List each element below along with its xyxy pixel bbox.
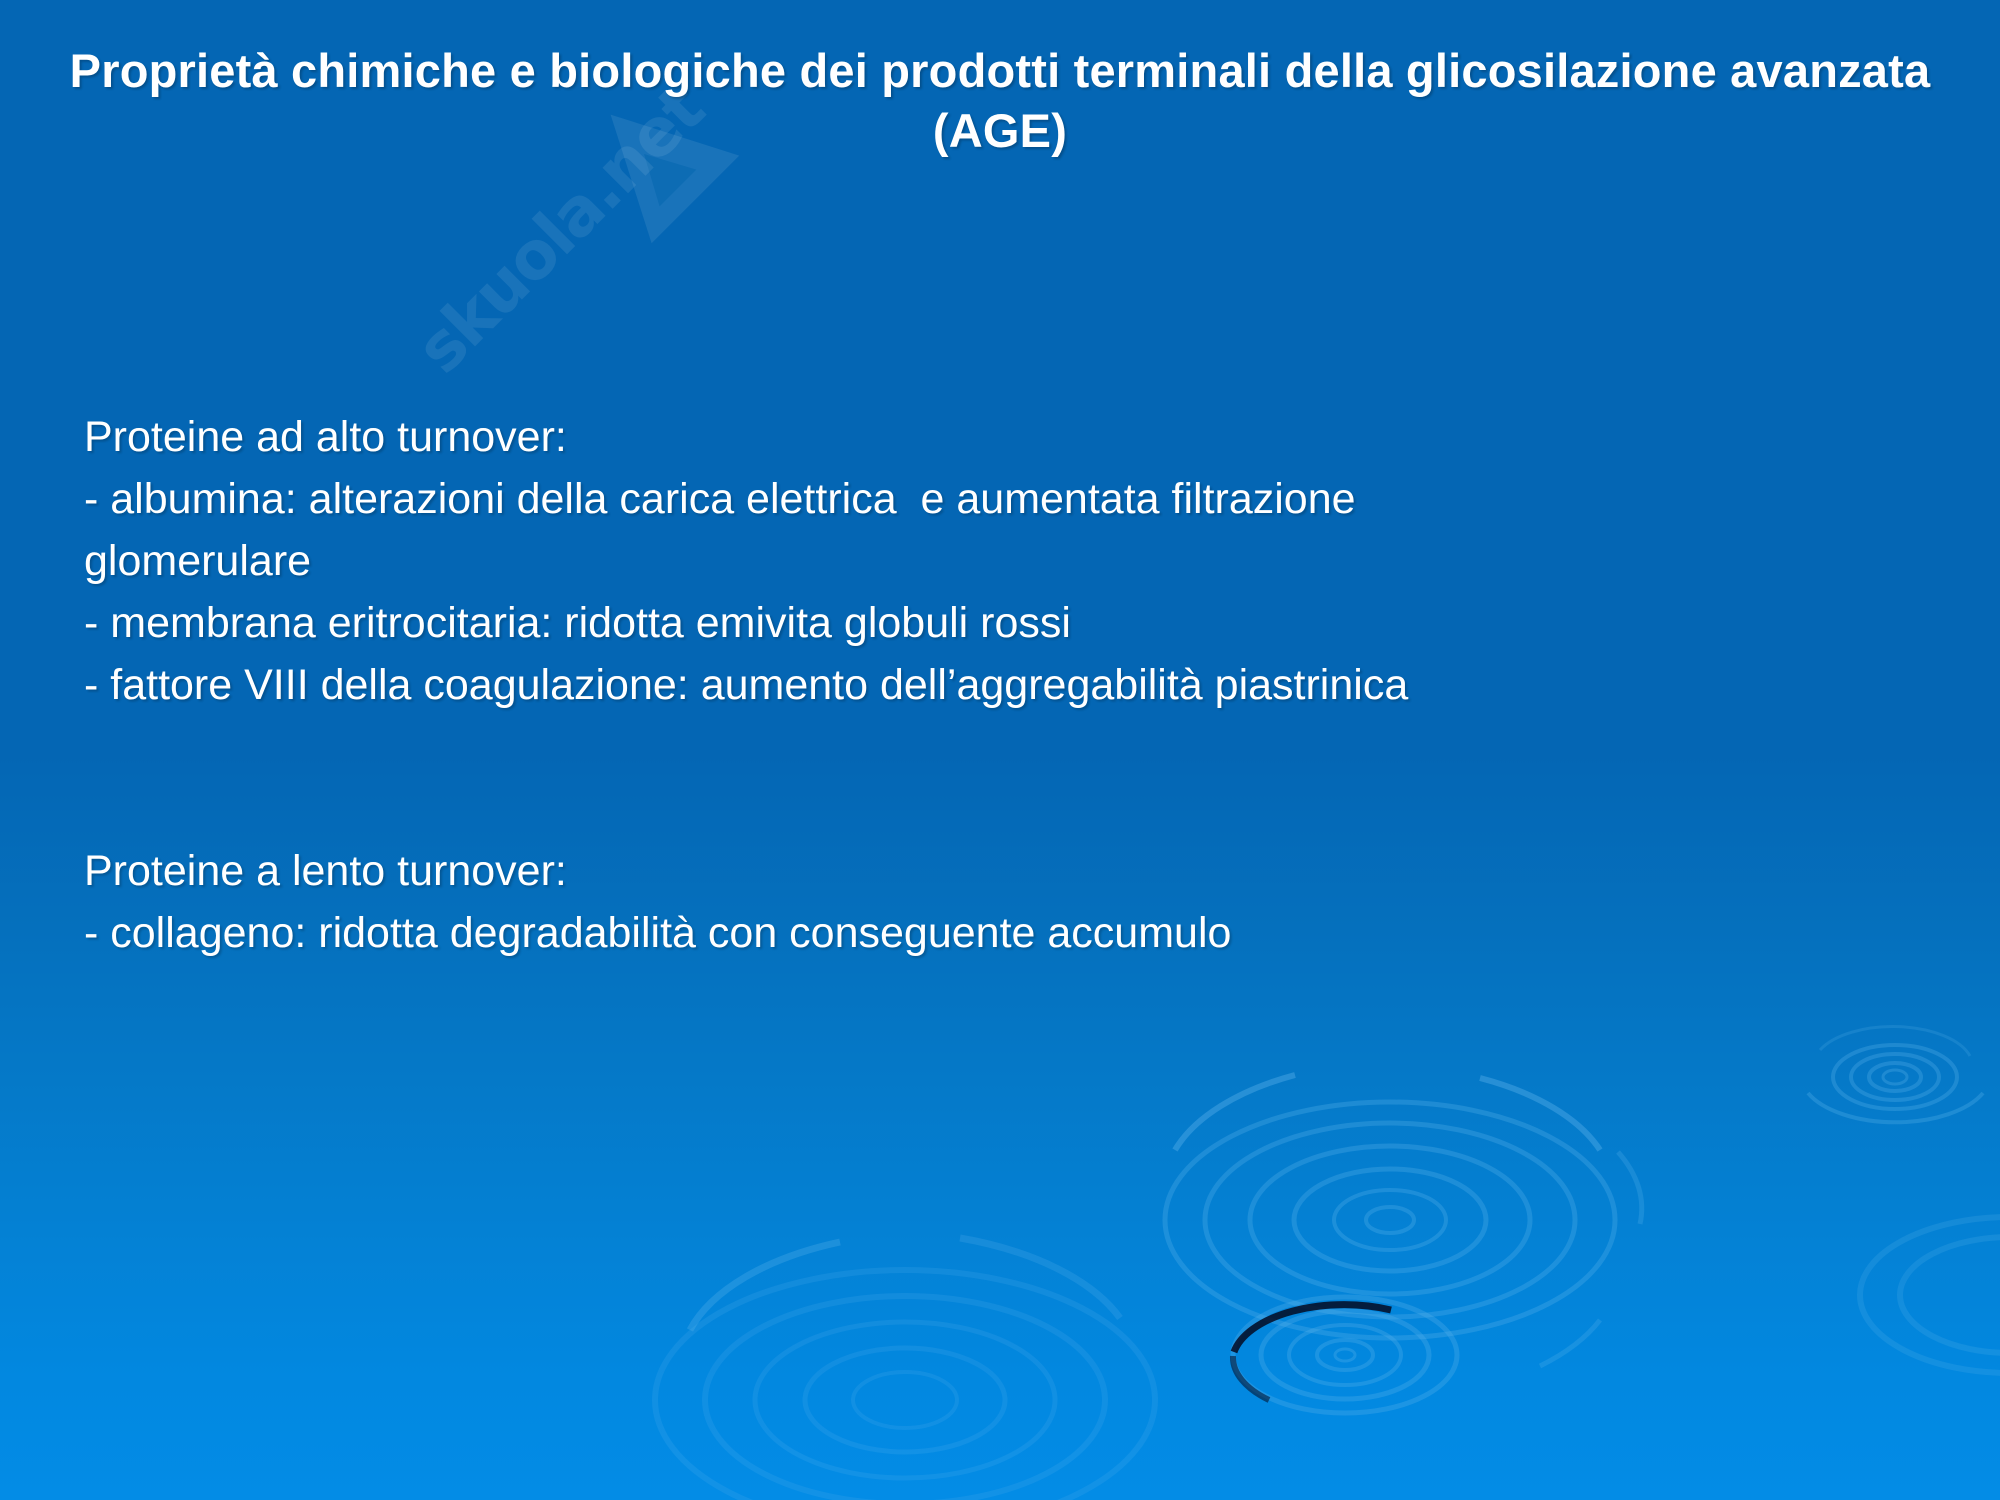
slide-canvas: skuola.net Proprietà chimiche e biologic… xyxy=(0,0,2000,1500)
ripple-medium-bottom-centre xyxy=(1233,1297,1457,1413)
paragraph-spacer xyxy=(84,716,1914,840)
ripple-large-bottom-right xyxy=(1165,1075,1642,1366)
body-line: - membrana eritrocitaria: ridotta emivit… xyxy=(84,592,1914,654)
body-line: - fattore VIII della coagulazione: aumen… xyxy=(84,654,1914,716)
body-line: - albumina: alterazioni della carica ele… xyxy=(84,468,1914,530)
body-line: - collageno: ridotta degradabilità con c… xyxy=(84,902,1914,964)
ripple-edge-right xyxy=(1860,1217,2000,1373)
ripple-faint-bottom-left xyxy=(655,1238,1155,1500)
slide-body: Proteine ad alto turnover: - albumina: a… xyxy=(84,406,1914,964)
ripple-small-top-right xyxy=(1808,1027,1983,1123)
section-heading: Proteine ad alto turnover: xyxy=(84,406,1914,468)
body-line: glomerulare xyxy=(84,530,1914,592)
section-slow-turnover: Proteine a lento turnover: - collageno: … xyxy=(84,840,1914,964)
slide-title: Proprietà chimiche e biologiche dei prod… xyxy=(60,41,1940,161)
section-high-turnover: Proteine ad alto turnover: - albumina: a… xyxy=(84,406,1914,716)
section-heading: Proteine a lento turnover: xyxy=(84,840,1914,902)
